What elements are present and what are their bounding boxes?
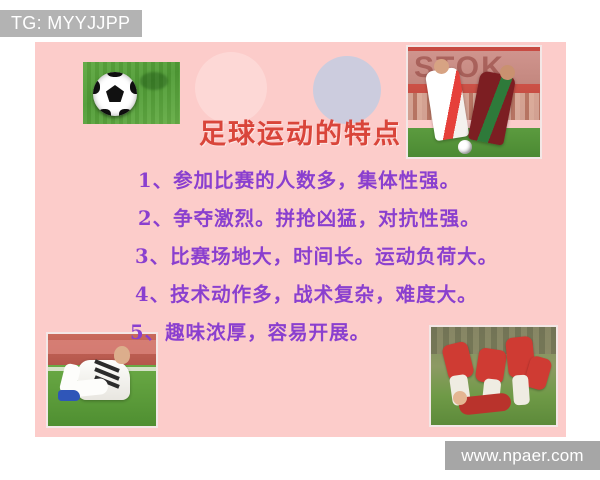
- soccer-ball-icon: [93, 72, 137, 116]
- pitch-shadow: [140, 72, 168, 90]
- player-boot: [58, 390, 80, 401]
- player-dark-head: [500, 65, 515, 80]
- slide-title: 足球运动的特点: [35, 112, 566, 151]
- bullet-item-2: 2、争夺激烈。拼抢凶猛，对抗性强。: [35, 200, 566, 238]
- bullet-item-1: 1、参加比赛的人数多，集体性强。: [35, 162, 566, 200]
- bullet-item-4: 4、技术动作多，战术复杂，难度大。: [35, 276, 566, 314]
- bullet-list: 1、参加比赛的人数多，集体性强。 2、争夺激烈。拼抢凶猛，对抗性强。 3、比赛场…: [35, 162, 566, 352]
- goalkeeper-head: [453, 391, 467, 405]
- player-white-head: [434, 59, 449, 74]
- presentation-slide: STOK: [35, 42, 566, 437]
- bullet-item-3: 3、比赛场地大，时间长。运动负荷大。: [35, 238, 566, 276]
- bullet-item-5: 5、趣味浓厚，容易开展。: [35, 314, 566, 352]
- player-shorts: [512, 374, 530, 405]
- tg-overlay-label: TG: MYYJJPP: [0, 10, 142, 37]
- site-watermark: www.npaer.com: [445, 441, 600, 470]
- screenshot-stage: STOK: [0, 0, 600, 480]
